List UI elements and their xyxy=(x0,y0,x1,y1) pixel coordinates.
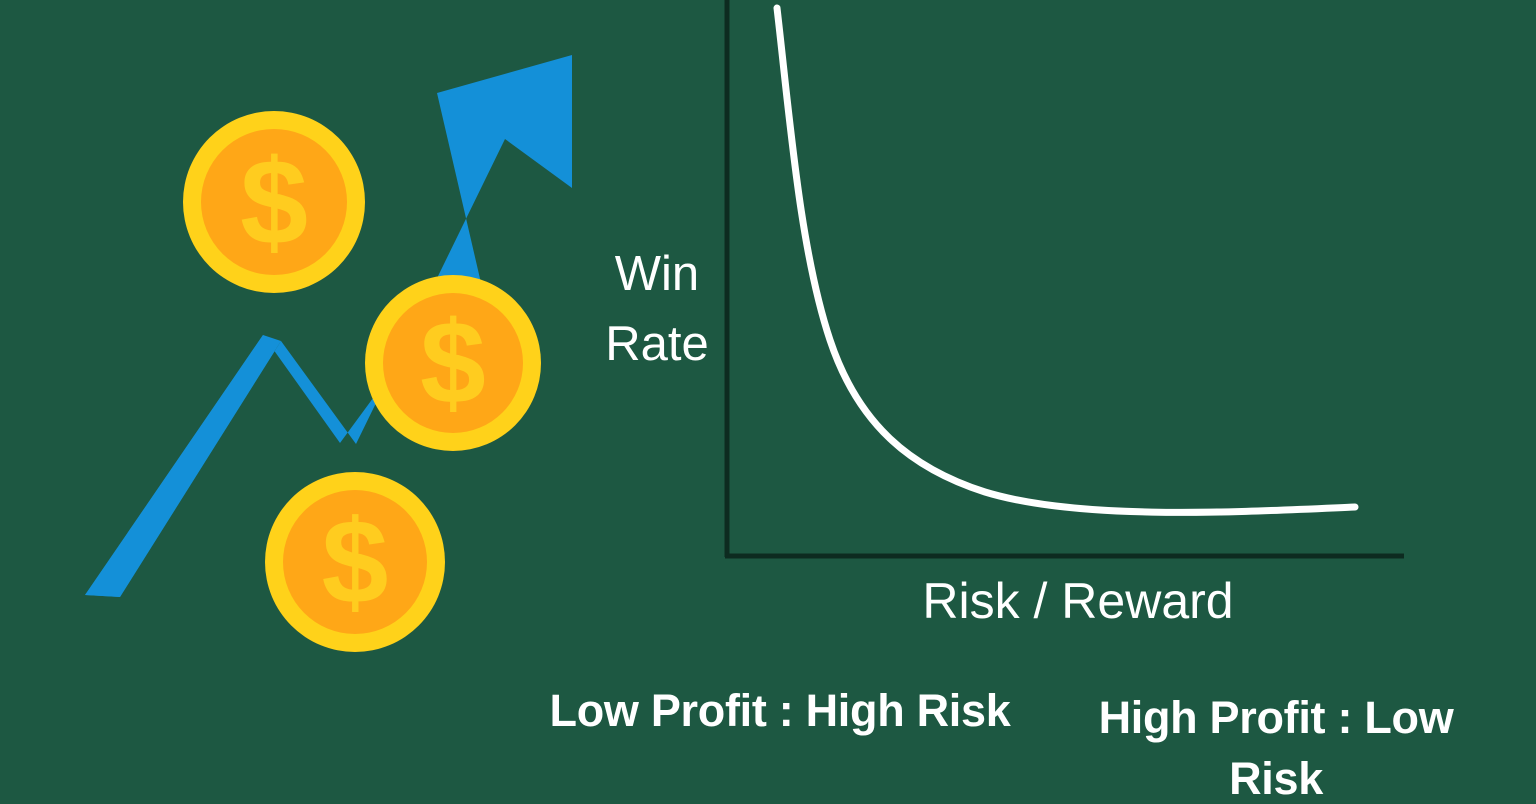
y-axis-label-line2: Rate xyxy=(605,317,709,371)
caption-right-line1: High Profit : Low xyxy=(1099,692,1454,743)
caption-low-profit-high-risk: Low Profit : High Risk xyxy=(470,688,1090,733)
caption-right-line2: Risk xyxy=(1229,753,1323,804)
chart-plot-area xyxy=(0,0,1536,804)
y-axis-label: WinRate xyxy=(598,240,716,379)
caption-high-profit-low-risk: High Profit : LowRisk xyxy=(1076,688,1476,804)
x-axis-label: Risk / Reward xyxy=(726,576,1430,626)
win-rate-curve xyxy=(777,8,1355,512)
y-axis-label-line1: Win xyxy=(615,247,699,301)
infographic-canvas: $ $ $ WinRate Risk / Reward Low Profit :… xyxy=(0,0,1536,804)
